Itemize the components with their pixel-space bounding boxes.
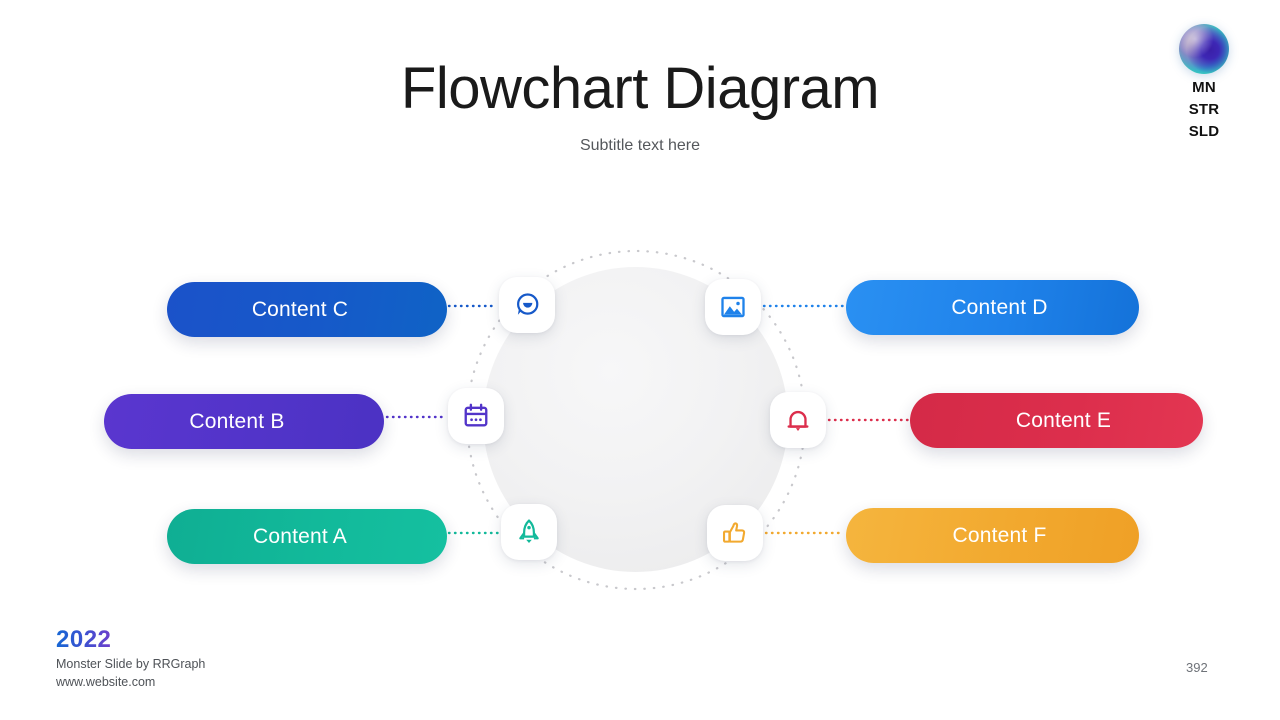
slide-canvas: Flowchart Diagram Subtitle text here MN …	[0, 0, 1280, 720]
calendar-icon	[462, 402, 490, 430]
footer: 2022 Monster Slide by RRGraph www.websit…	[56, 626, 205, 690]
node-pill-content-e[interactable]: Content E	[910, 393, 1203, 448]
node-label-e: Content E	[1016, 409, 1111, 433]
image-icon	[719, 293, 747, 321]
chat-smile-icon	[513, 291, 541, 319]
footer-credit: Monster Slide by RRGraph	[56, 656, 205, 672]
page-number: 392	[1186, 660, 1208, 676]
node-label-c: Content C	[252, 298, 348, 322]
logo-line-3: SLD	[1172, 124, 1236, 140]
node-pill-content-a[interactable]: Content A	[167, 509, 447, 564]
page-title: Flowchart Diagram	[0, 55, 1280, 123]
icon-badge-content-c[interactable]	[499, 277, 555, 333]
icon-badge-content-d[interactable]	[705, 279, 761, 335]
logo-line-1: MN	[1172, 80, 1236, 96]
icon-badge-content-e[interactable]	[770, 392, 826, 448]
page-subtitle: Subtitle text here	[0, 134, 1280, 158]
node-label-a: Content A	[253, 525, 347, 549]
node-pill-content-c[interactable]: Content C	[167, 282, 447, 337]
sphere-icon	[1179, 24, 1229, 74]
node-label-b: Content B	[189, 410, 284, 434]
node-pill-content-d[interactable]: Content D	[846, 280, 1139, 335]
icon-badge-content-b[interactable]	[448, 388, 504, 444]
node-label-d: Content D	[951, 296, 1047, 320]
footer-year: 2022	[56, 626, 111, 654]
icon-badge-content-a[interactable]	[501, 504, 557, 560]
brand-logo: MN STR SLD	[1172, 24, 1236, 140]
bell-icon	[784, 406, 812, 434]
icon-badge-content-f[interactable]	[707, 505, 763, 561]
rocket-icon	[515, 518, 543, 546]
node-pill-content-f[interactable]: Content F	[846, 508, 1139, 563]
node-pill-content-b[interactable]: Content B	[104, 394, 384, 449]
thumbs-up-icon	[721, 519, 749, 547]
node-label-f: Content F	[952, 524, 1046, 548]
footer-website[interactable]: www.website.com	[56, 674, 205, 690]
logo-line-2: STR	[1172, 102, 1236, 118]
